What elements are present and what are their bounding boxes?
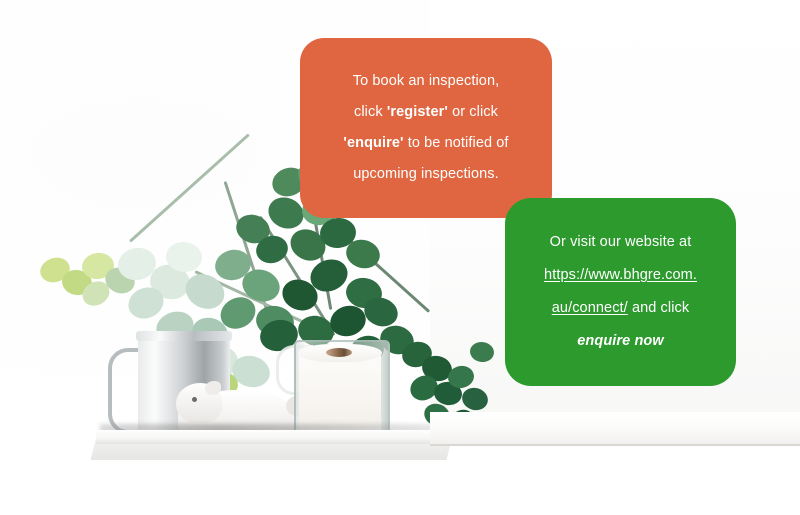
figurine-eye — [192, 397, 197, 402]
jug-rim — [136, 331, 232, 341]
register-keyword: 'register' — [387, 104, 448, 120]
orange-card-line-2: click 'register' or click — [300, 97, 552, 128]
wall-shelf — [430, 412, 800, 446]
figurine-ear — [205, 381, 221, 395]
candle-wick — [326, 348, 352, 357]
green-card-line-4: enquire now — [505, 325, 736, 358]
orange-card-line-3: 'enquire' to be notified of — [300, 128, 552, 159]
website-url-part-1[interactable]: https://www.bhgre.com. — [544, 267, 697, 283]
website-link-card: Or visit our website at https://www.bhgr… — [505, 198, 736, 386]
tray-top — [96, 430, 448, 444]
green-card-line-1: Or visit our website at — [505, 226, 736, 259]
promotional-graphic: To book an inspection, click 'register' … — [0, 0, 800, 515]
enquire-now-cta[interactable]: enquire now — [577, 333, 664, 349]
shelf-edge-line — [430, 444, 800, 446]
green-card-line-2: https://www.bhgre.com. — [505, 259, 736, 292]
inspection-instructions-card: To book an inspection, click 'register' … — [300, 38, 552, 218]
orange-card-line-1: To book an inspection, — [300, 66, 552, 97]
website-url-part-2[interactable]: au/connect/ — [552, 300, 628, 316]
enquire-keyword: 'enquire' — [343, 135, 403, 151]
green-card-line-3: au/connect/ and click — [505, 292, 736, 325]
orange-card-line-4: upcoming inspections. — [300, 159, 552, 190]
